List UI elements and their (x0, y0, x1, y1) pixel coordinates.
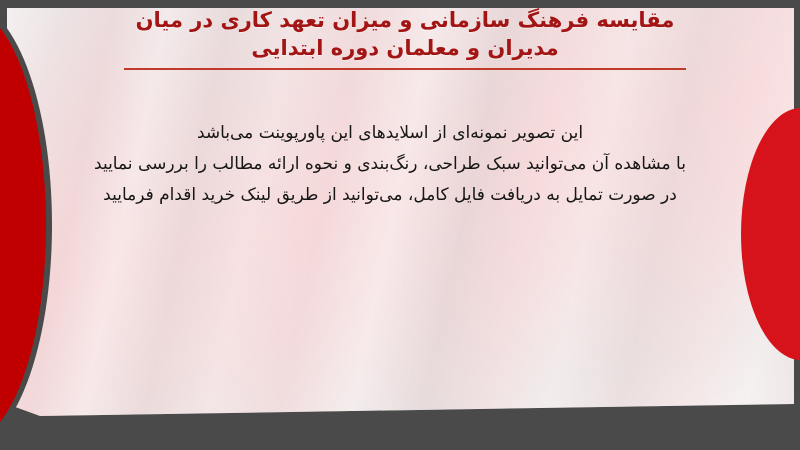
title-underline-divider (124, 68, 686, 70)
slide-body-text: این تصویر نمونه‌ای از اسلایدهای این پاور… (70, 118, 710, 211)
body-line-3: در صورت تمایل به دریافت فایل کامل، می‌تو… (70, 180, 710, 211)
presentation-slide: مقایسه فرهنگ سازمانی و میزان تعهد کاری د… (0, 0, 800, 450)
body-line-2: با مشاهده آن می‌توانید سبک طراحی، رنگ‌بن… (70, 149, 710, 180)
slide-title: مقایسه فرهنگ سازمانی و میزان تعهد کاری د… (105, 6, 705, 70)
slide-title-line-2: مدیران و معلمان دوره ابتدایی (105, 34, 705, 62)
body-line-1: این تصویر نمونه‌ای از اسلایدهای این پاور… (70, 118, 710, 149)
slide-title-line-1: مقایسه فرهنگ سازمانی و میزان تعهد کاری د… (105, 6, 705, 34)
